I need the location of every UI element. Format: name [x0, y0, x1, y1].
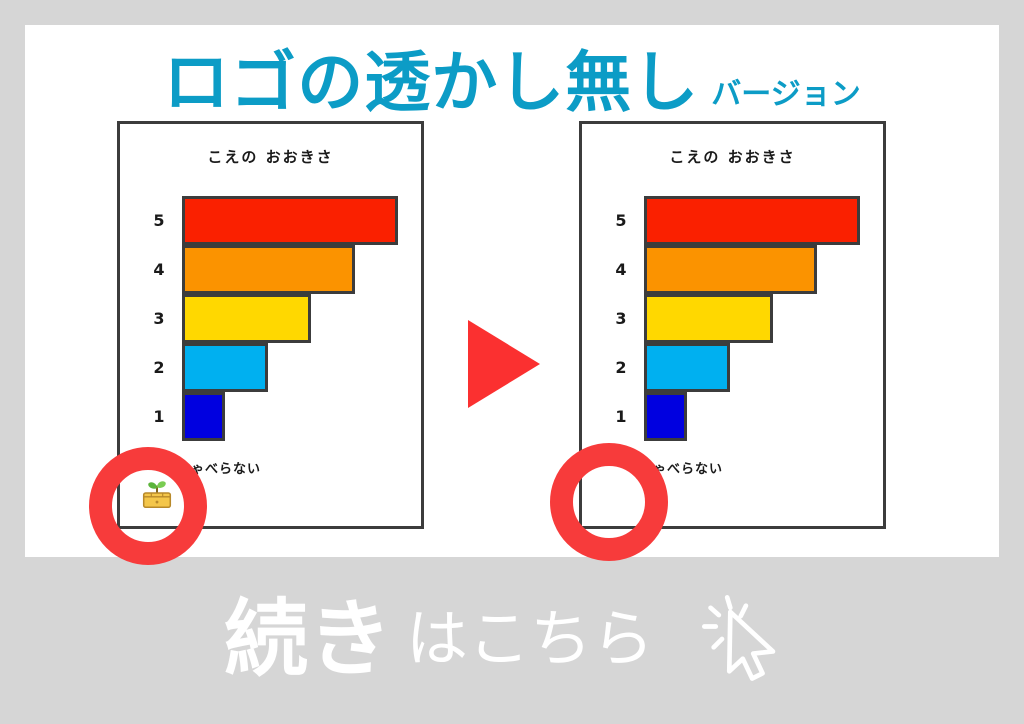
bar-value-5 — [182, 196, 398, 245]
bar-label: 3 — [602, 294, 640, 343]
bar-value-2 — [182, 343, 268, 392]
footer-text-main: 続き — [224, 597, 392, 681]
transition-arrow-icon — [468, 320, 540, 408]
page-title-main: ロゴの透かし無し — [163, 50, 699, 116]
bar-value-4 — [644, 245, 817, 294]
bar-row: 1 — [140, 392, 410, 441]
bar-value-3 — [644, 294, 773, 343]
mouse-cursor-click-icon — [696, 587, 800, 691]
bar-label: 1 — [140, 392, 178, 441]
bar-chart-after: 5 4 3 2 1 — [602, 196, 872, 456]
footer-text-sub: はこちら — [406, 608, 654, 670]
bar-label: 1 — [602, 392, 640, 441]
bar-label: 2 — [602, 343, 640, 392]
bar-value-2 — [644, 343, 730, 392]
bar-row: 5 — [140, 196, 410, 245]
bar-row: 3 — [140, 294, 410, 343]
page-title-sub: バージョン — [711, 80, 860, 110]
bar-row: 1 — [602, 392, 872, 441]
bar-chart-before: 5 4 3 2 1 — [140, 196, 410, 456]
bar-label: 5 — [140, 196, 178, 245]
logo-removed-highlight-ring — [550, 443, 668, 561]
bar-row: 3 — [602, 294, 872, 343]
bar-label: 3 — [140, 294, 178, 343]
bar-row: 2 — [140, 343, 410, 392]
bar-row: 4 — [602, 245, 872, 294]
bar-label: 5 — [602, 196, 640, 245]
bar-label: 2 — [140, 343, 178, 392]
bar-label: 4 — [140, 245, 178, 294]
bar-label: 4 — [602, 245, 640, 294]
chart-title-before: こえの おおきさ — [120, 146, 421, 167]
bar-row: 5 — [602, 196, 872, 245]
bar-value-1 — [644, 392, 687, 441]
bar-value-1 — [182, 392, 225, 441]
logo-watermark-highlight-ring — [89, 447, 207, 565]
bar-row: 4 — [140, 245, 410, 294]
bar-value-4 — [182, 245, 355, 294]
slide-canvas: ロゴの透かし無し バージョン こえの おおきさ 5 4 3 2 1 — [0, 0, 1024, 724]
bar-value-3 — [182, 294, 311, 343]
page-title: ロゴの透かし無し バージョン — [25, 28, 999, 116]
footer-cta[interactable]: 続き はこちら — [0, 564, 1024, 714]
bar-row: 2 — [602, 343, 872, 392]
chart-title-after: こえの おおきさ — [582, 146, 883, 167]
bar-value-5 — [644, 196, 860, 245]
